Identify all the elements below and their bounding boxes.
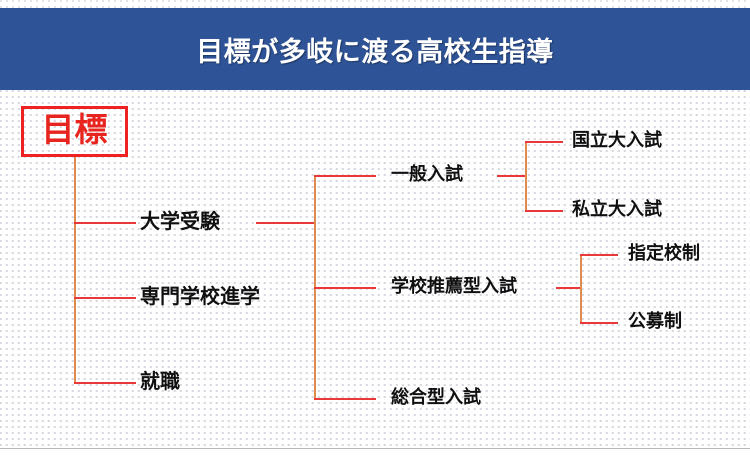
connector-branch-to-sogo (314, 398, 376, 400)
connector-ippan-to-branch (497, 175, 526, 177)
node-level2-ippan[interactable]: 一般入試 (391, 165, 463, 185)
connector-branch-to-kokuritsu (525, 141, 563, 143)
connector-root-to-daigaku (74, 222, 136, 224)
node-level3-shiritsu[interactable]: 私立大入試 (572, 200, 662, 220)
top-texture-strip (0, 0, 750, 8)
page-title: 目標が多岐に渡る高校生指導 (196, 30, 554, 69)
node-level2-suisen[interactable]: 学校推薦型入試 (391, 277, 517, 297)
connector-branch-to-suisen (314, 287, 376, 289)
connector-branch-to-shiritsu (525, 210, 563, 212)
node-level2-sogo[interactable]: 総合型入試 (391, 388, 481, 408)
connector-trunk-ippan-children (525, 141, 527, 210)
connector-branch-to-shiteikosei (580, 254, 618, 256)
node-level1-daigaku[interactable]: 大学受験 (140, 211, 220, 233)
connector-branch-to-ippan (314, 175, 376, 177)
node-level3-shiteikosei[interactable]: 指定校制 (628, 244, 700, 264)
connector-suisen-to-branch (556, 287, 582, 289)
connector-trunk-suisen-children (580, 254, 582, 323)
connector-trunk-root (74, 157, 76, 383)
node-level1-shushoku[interactable]: 就職 (140, 371, 180, 393)
root-node-label: 目標 (42, 115, 108, 148)
node-level3-kokuritsu[interactable]: 国立大入試 (572, 131, 662, 151)
node-level1-senmon[interactable]: 専門学校進学 (140, 286, 260, 308)
connector-branch-to-kobosei (580, 322, 618, 324)
connector-root-to-senmon (74, 297, 136, 299)
node-level3-kobosei[interactable]: 公募制 (628, 312, 682, 332)
root-node-goal[interactable]: 目標 (21, 106, 128, 157)
connector-root-to-shushoku (74, 382, 136, 384)
title-banner: 目標が多岐に渡る高校生指導 (0, 8, 750, 90)
connector-daigaku-to-branch (256, 222, 316, 224)
slide-canvas: 目標が多岐に渡る高校生指導 目標 大学受験 専門学校進学 就職 一般入試 学校推… (0, 0, 750, 464)
